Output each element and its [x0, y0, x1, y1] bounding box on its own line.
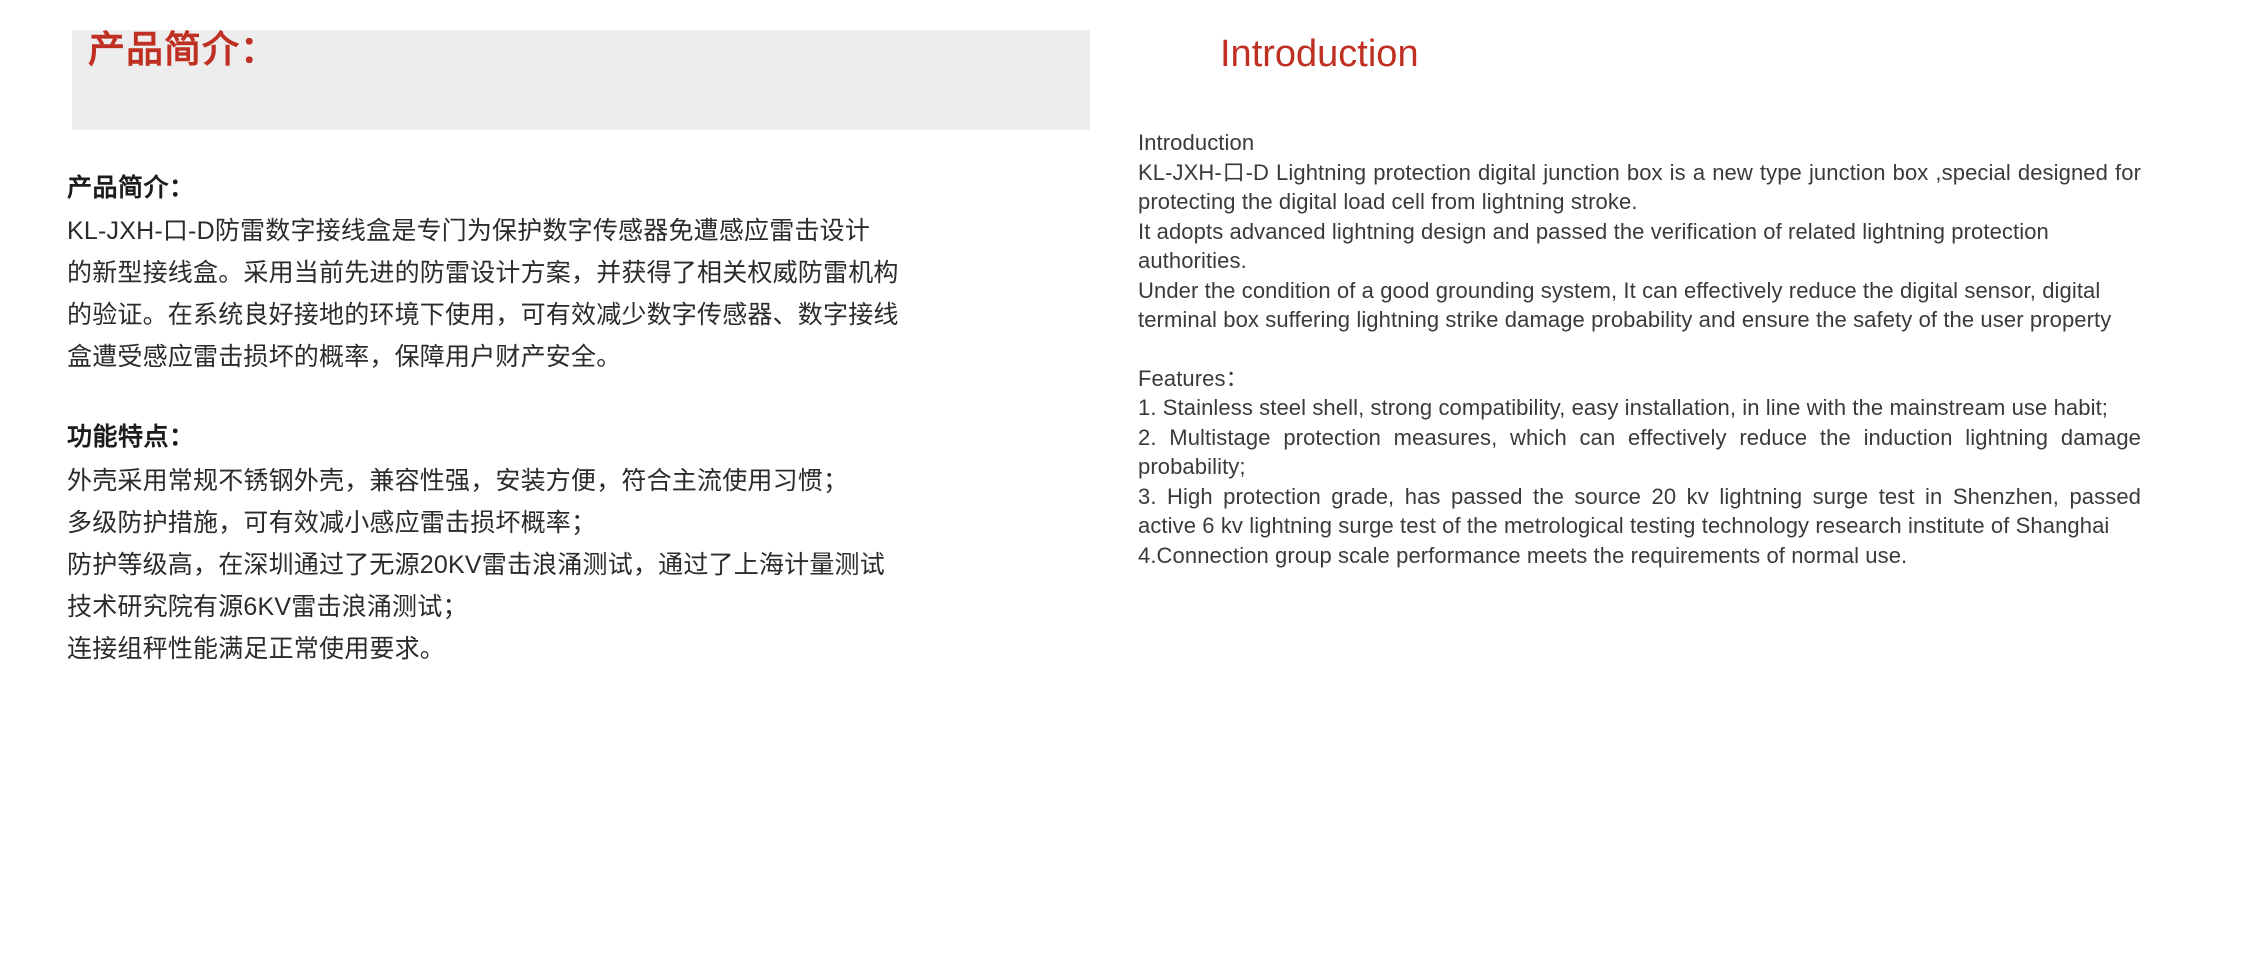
paragraph-spacer	[67, 378, 1087, 422]
chinese-content: 产品简介： KL-JXH-口-D防雷数字接线盒是专门为保护数字传感器免遭感应雷击…	[67, 173, 1087, 670]
product-intro-paragraph: KL-JXH-口-D防雷数字接线盒是专门为保护数字传感器免遭感应雷击设计 的新型…	[67, 210, 1087, 378]
intro-paragraph-3: Under the condition of a good grounding …	[1138, 276, 2141, 335]
feature-item-3: 3. High protection grade, has passed the…	[1138, 482, 2141, 541]
text-line: 的验证。在系统良好接地的环境下使用，可有效减少数字传感器、数字接线	[67, 294, 1087, 336]
features-heading: 功能特点：	[67, 422, 1087, 453]
chinese-column: 产品简介： 产品简介： KL-JXH-口-D防雷数字接线盒是专门为保护数字传感器…	[0, 0, 1120, 977]
feature-line: 连接组秤性能满足正常使用要求。	[67, 628, 1087, 670]
intro-paragraph-2: It adopts advanced lightning design and …	[1138, 217, 2141, 276]
introduction-title: Introduction	[1220, 35, 1419, 73]
feature-item-2: 2. Multistage protection measures, which…	[1138, 423, 2141, 482]
features-label: Features：	[1138, 364, 2141, 394]
intro-paragraph-1: KL-JXH-口-D Lightning protection digital …	[1138, 158, 2141, 217]
introduction-label: Introduction	[1138, 128, 2141, 158]
feature-line: 防护等级高，在深圳通过了无源20KV雷击浪涌测试，通过了上海计量测试	[67, 544, 1087, 586]
features-list: 外壳采用常规不锈钢外壳，兼容性强，安装方便，符合主流使用习惯； 多级防护措施，可…	[67, 460, 1087, 670]
paragraph-spacer	[1138, 335, 2141, 364]
text-line: 的新型接线盒。采用当前先进的防雷设计方案，并获得了相关权威防雷机构	[67, 252, 1087, 294]
feature-item-1: 1. Stainless steel shell, strong compati…	[1138, 393, 2141, 423]
english-column: Introduction Introduction KL-JXH-口-D Lig…	[1120, 0, 2244, 977]
text-line: 盒遭受感应雷击损坏的概率，保障用户财产安全。	[67, 336, 1087, 378]
feature-line: 外壳采用常规不锈钢外壳，兼容性强，安装方便，符合主流使用习惯；	[67, 460, 1087, 502]
banner-title: 产品简介：	[88, 31, 278, 68]
english-content: Introduction KL-JXH-口-D Lightning protec…	[1138, 128, 2141, 570]
feature-line: 技术研究院有源6KV雷击浪涌测试；	[67, 586, 1087, 628]
feature-item-4: 4.Connection group scale performance mee…	[1138, 541, 2141, 571]
text-line: KL-JXH-口-D防雷数字接线盒是专门为保护数字传感器免遭感应雷击设计	[67, 210, 1087, 252]
product-intro-heading: 产品简介：	[67, 173, 1087, 204]
feature-line: 多级防护措施，可有效减小感应雷击损坏概率；	[67, 502, 1087, 544]
